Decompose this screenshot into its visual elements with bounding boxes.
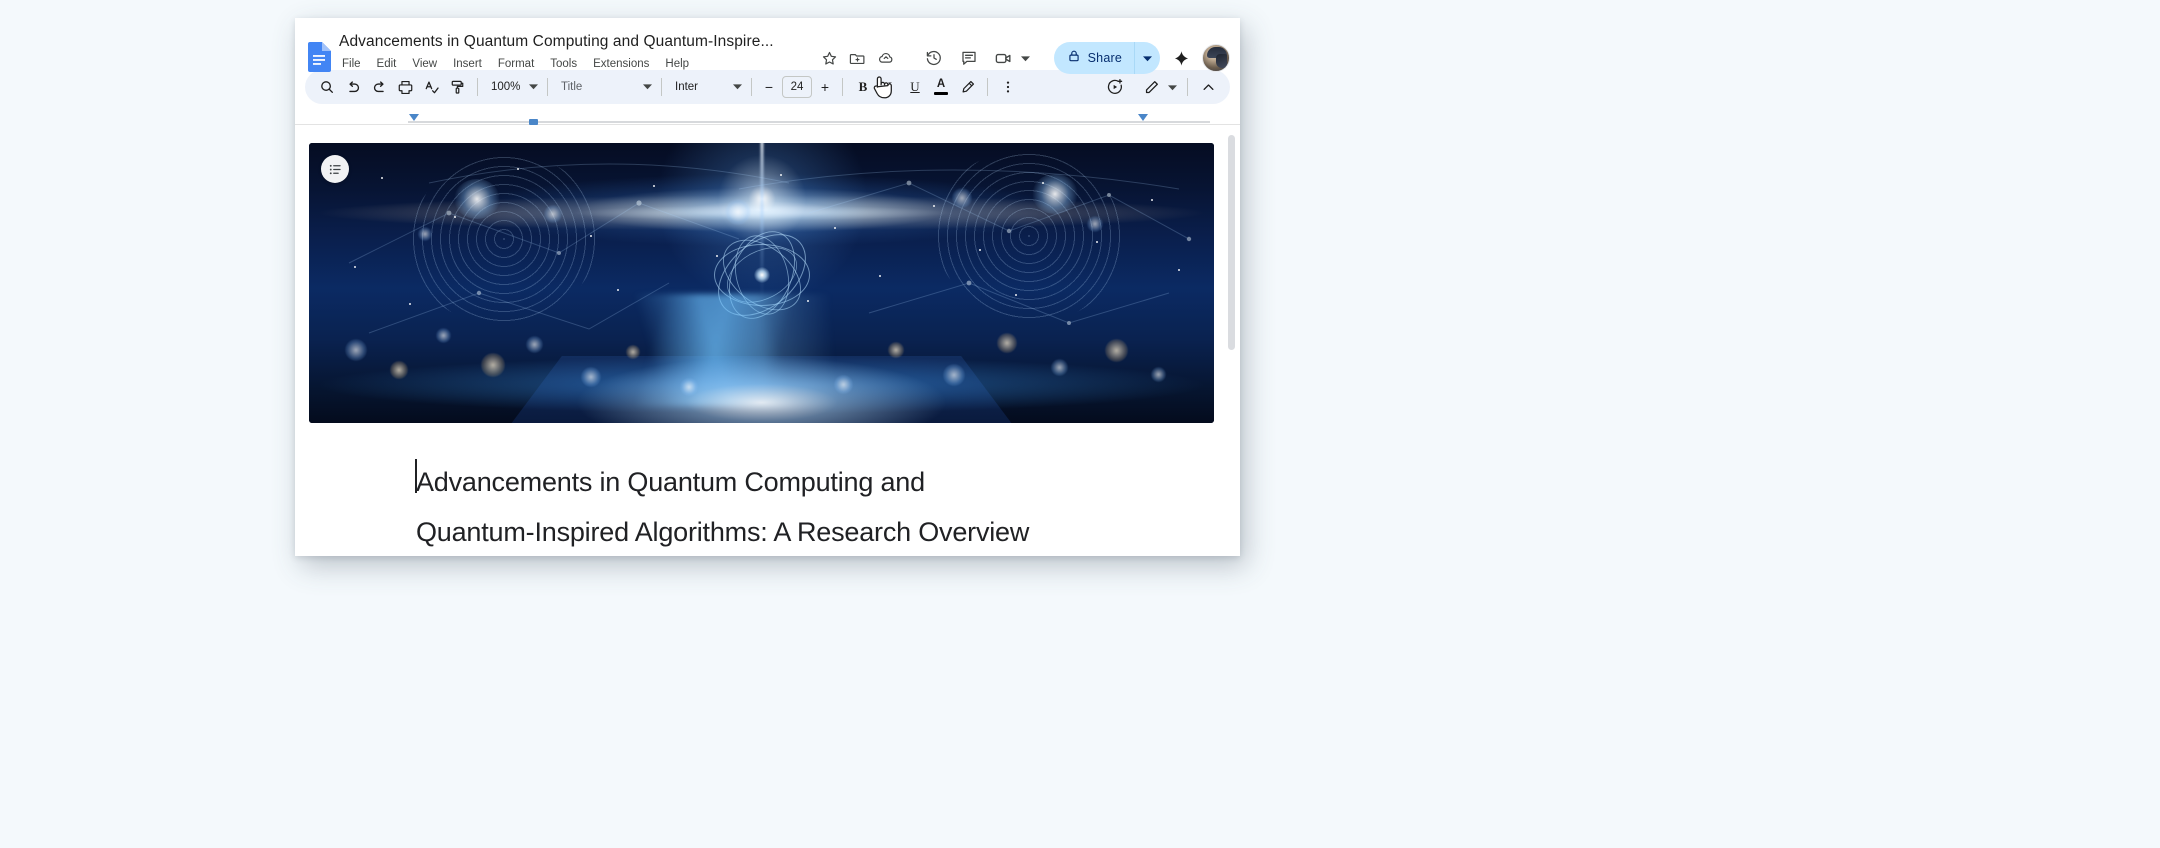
italic-button[interactable]: I [876, 74, 902, 100]
text-color-swatch [934, 92, 948, 95]
document-outline-icon[interactable] [321, 155, 349, 183]
lock-icon [1067, 49, 1081, 68]
toolbar-divider-3 [661, 78, 662, 96]
page-title[interactable]: Advancements in Quantum Computing and Qu… [339, 32, 774, 52]
ruler[interactable] [295, 110, 1240, 125]
editing-mode-caret-icon[interactable] [1164, 74, 1180, 100]
menu-item-tools[interactable]: Tools [542, 55, 585, 74]
comment-icon[interactable] [955, 44, 983, 72]
document-page[interactable]: Advancements in Quantum Computing and Qu… [295, 125, 1240, 556]
star-icon[interactable] [816, 44, 844, 72]
heading-line-1: Advancements in Quantum Computing and [416, 457, 1136, 507]
vertical-scrollbar-thumb[interactable] [1228, 135, 1235, 350]
zoom-dropdown[interactable]: 100% [485, 74, 540, 100]
undo-icon[interactable] [340, 74, 366, 100]
share-button[interactable]: Share [1054, 42, 1134, 74]
formatting-toolbar: 100% Title Inter − [305, 70, 1230, 104]
menu-item-view[interactable]: View [404, 55, 445, 74]
font-family-value: Inter [675, 81, 727, 93]
left-indent-marker[interactable] [409, 114, 419, 121]
highlight-pen-icon[interactable] [954, 74, 980, 100]
toolbar-divider-4 [751, 78, 752, 96]
paragraph-style-value: Title [561, 81, 637, 93]
record-capture-icon[interactable] [1102, 74, 1128, 100]
banner-image[interactable] [309, 143, 1214, 423]
cloud-saved-icon[interactable] [872, 44, 900, 72]
document-canvas[interactable]: Advancements in Quantum Computing and Qu… [295, 125, 1240, 556]
gemini-spark-icon[interactable] [1167, 44, 1195, 72]
zoom-value: 100% [491, 81, 523, 93]
toolbar-container: 100% Title Inter − [295, 70, 1240, 110]
document-heading[interactable]: Advancements in Quantum Computing and Qu… [416, 457, 1136, 556]
decrease-font-size-button[interactable]: − [759, 77, 779, 97]
chevron-up-icon[interactable] [1195, 74, 1221, 100]
meet-video-icon[interactable] [990, 44, 1018, 72]
toolbar-divider-7 [1187, 78, 1188, 96]
font-size-stepper: − 24 + [759, 76, 835, 98]
heading-line-2: Quantum-Inspired Algorithms: A Research … [416, 507, 1136, 556]
move-to-folder-icon[interactable] [844, 44, 872, 72]
menu-item-edit[interactable]: Edit [369, 55, 405, 74]
chevron-down-icon [639, 82, 652, 93]
search-icon[interactable] [314, 74, 340, 100]
vertical-scrollbar-track[interactable] [1228, 125, 1238, 556]
menu-item-insert[interactable]: Insert [445, 55, 490, 74]
spellcheck-icon[interactable] [418, 74, 444, 100]
menu-item-help[interactable]: Help [657, 55, 697, 74]
avatar[interactable] [1202, 44, 1230, 72]
share-label: Share [1088, 51, 1122, 65]
paragraph-style-dropdown[interactable]: Title [555, 74, 654, 100]
menu-bar: File Edit View Insert Format Tools Exten… [339, 55, 774, 74]
menu-item-extensions[interactable]: Extensions [585, 55, 657, 74]
underline-button[interactable]: U [902, 74, 928, 100]
text-color-letter: A [937, 79, 945, 90]
header-icon-group: Share [816, 42, 1230, 74]
chevron-down-icon [525, 82, 538, 93]
pen-edit-icon[interactable] [1138, 74, 1164, 100]
right-indent-marker[interactable] [1138, 114, 1148, 121]
share-dropdown-caret-icon[interactable] [1134, 42, 1160, 74]
toolbar-divider-6 [987, 78, 988, 96]
bold-button[interactable]: B [850, 74, 876, 100]
version-history-icon[interactable] [920, 44, 948, 72]
meet-dropdown-caret-icon[interactable] [1018, 44, 1034, 72]
menu-item-file[interactable]: File [339, 55, 369, 74]
toolbar-divider-5 [842, 78, 843, 96]
banner-stars [309, 143, 1214, 423]
title-block: Advancements in Quantum Computing and Qu… [339, 32, 774, 74]
print-icon[interactable] [392, 74, 418, 100]
docs-header: Advancements in Quantum Computing and Qu… [295, 18, 1240, 70]
more-vertical-icon[interactable] [995, 74, 1021, 100]
font-size-input[interactable]: 24 [782, 76, 812, 98]
docs-file-icon[interactable] [307, 42, 331, 72]
paint-format-icon[interactable] [444, 74, 470, 100]
text-color-button[interactable]: A [928, 74, 954, 100]
increase-font-size-button[interactable]: + [815, 77, 835, 97]
toolbar-divider-1 [477, 78, 478, 96]
toolbar-divider-2 [547, 78, 548, 96]
font-family-dropdown[interactable]: Inter [669, 74, 744, 100]
chevron-down-icon [729, 82, 742, 93]
redo-icon[interactable] [366, 74, 392, 100]
menu-item-format[interactable]: Format [490, 55, 542, 74]
google-docs-window: Advancements in Quantum Computing and Qu… [295, 18, 1240, 556]
